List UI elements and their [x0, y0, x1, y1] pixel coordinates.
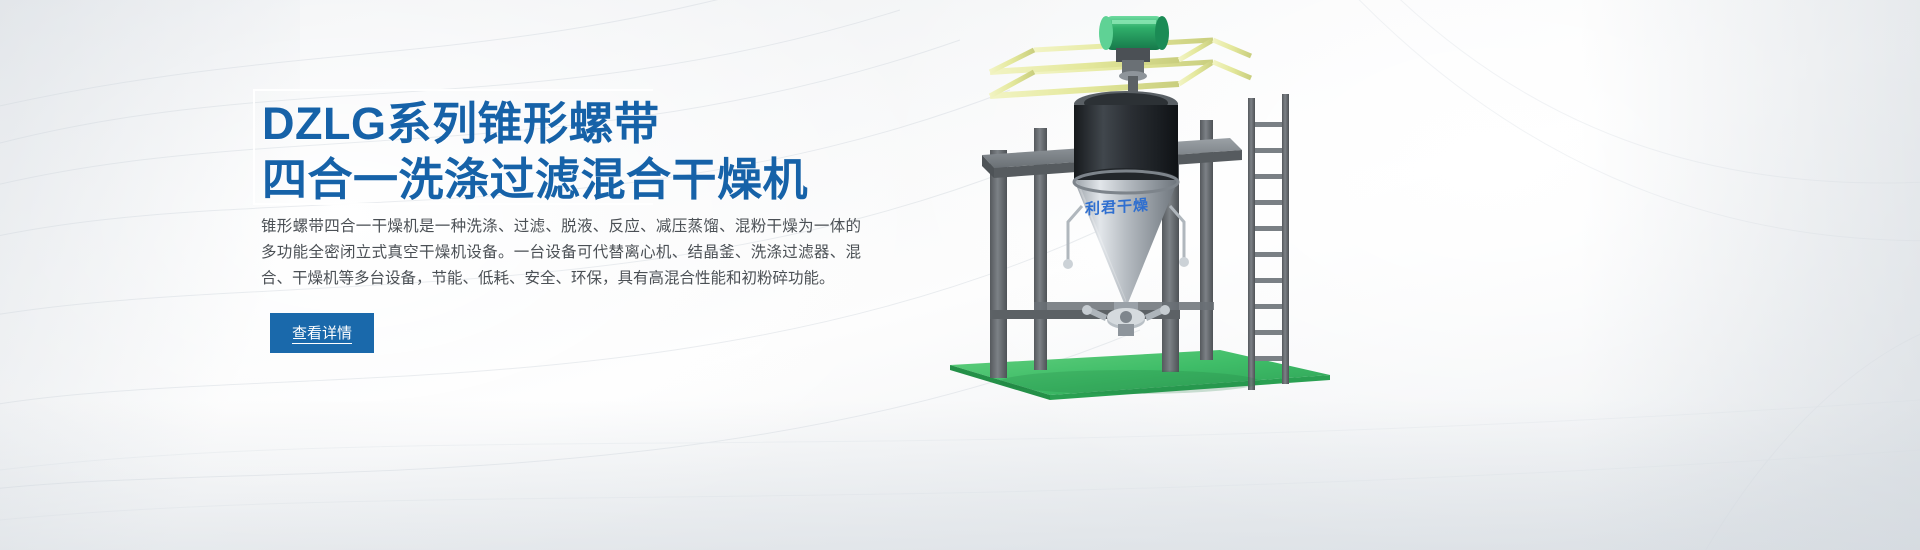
cta-wrapper: 查看详情	[270, 313, 374, 353]
motor-assembly	[1099, 16, 1169, 81]
brand-watermark: 利君干燥	[1085, 194, 1149, 219]
view-details-label: 查看详情	[292, 325, 352, 344]
product-illustration	[930, 10, 1360, 430]
hero-text-block: DZLG系列锥形螺带 四合一洗涤过滤混合干燥机 锥形螺带四合一干燥机是一种洗涤、…	[0, 0, 960, 550]
view-details-button[interactable]: 查看详情	[270, 313, 374, 353]
page-title-line-1: DZLG系列锥形螺带	[262, 96, 922, 152]
page-title: DZLG系列锥形螺带 四合一洗涤过滤混合干燥机	[262, 96, 922, 208]
background-right-shade	[1580, 0, 1920, 550]
page-title-line-2: 四合一洗涤过滤混合干燥机	[262, 152, 922, 208]
conical-ribbon-dryer-svg	[930, 10, 1360, 430]
product-description: 锥形螺带四合一干燥机是一种洗涤、过滤、脱液、反应、减压蒸馏、混粉干燥为一体的多功…	[261, 214, 861, 292]
ladder	[1213, 40, 1289, 390]
hero-banner: DZLG系列锥形螺带 四合一洗涤过滤混合干燥机 锥形螺带四合一干燥机是一种洗涤、…	[0, 0, 1920, 550]
